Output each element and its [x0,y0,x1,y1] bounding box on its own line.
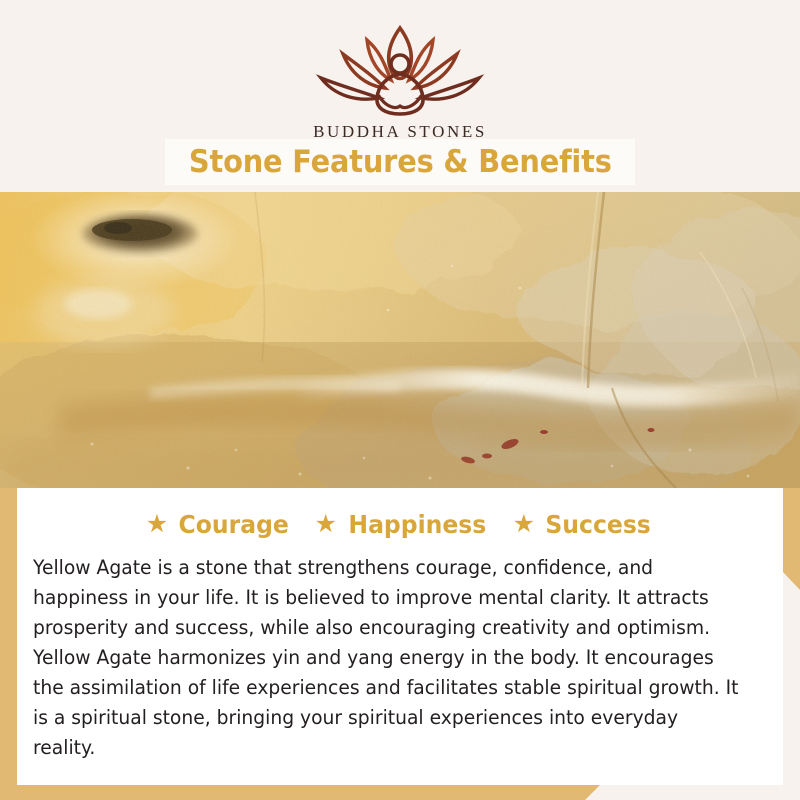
brand-logo: BUDDHA STONES [0,22,800,142]
feature-item-happiness: ★ Happiness [315,510,491,539]
stone-benefits-infographic: BUDDHA STONES Stone Features & Benefits [0,0,800,800]
feature-item-success: ★ Success [513,510,655,539]
page-title: Stone Features & Benefits [189,144,612,180]
feature-label: Success [545,510,650,539]
star-icon: ★ [146,512,168,537]
agate-texture-graphic [0,192,800,488]
star-icon: ★ [315,512,337,537]
stone-photo: Yellow Agate [0,192,800,488]
feature-label: Courage [179,510,289,539]
feature-keywords: ★ Courage ★ Happiness ★ Success [17,488,783,539]
header: BUDDHA STONES Stone Features & Benefits [0,0,800,192]
feature-item-courage: ★ Courage [146,510,293,539]
lotus-meditation-figure-icon [307,22,493,118]
stone-description: Yellow Agate is a stone that strengthens… [33,553,739,763]
star-icon: ★ [513,512,535,537]
page-title-box: Stone Features & Benefits [165,139,635,185]
feature-label: Happiness [348,510,486,539]
gold-border-bottom [0,785,800,800]
content-panel: ★ Courage ★ Happiness ★ Success Yellow A… [17,488,783,785]
